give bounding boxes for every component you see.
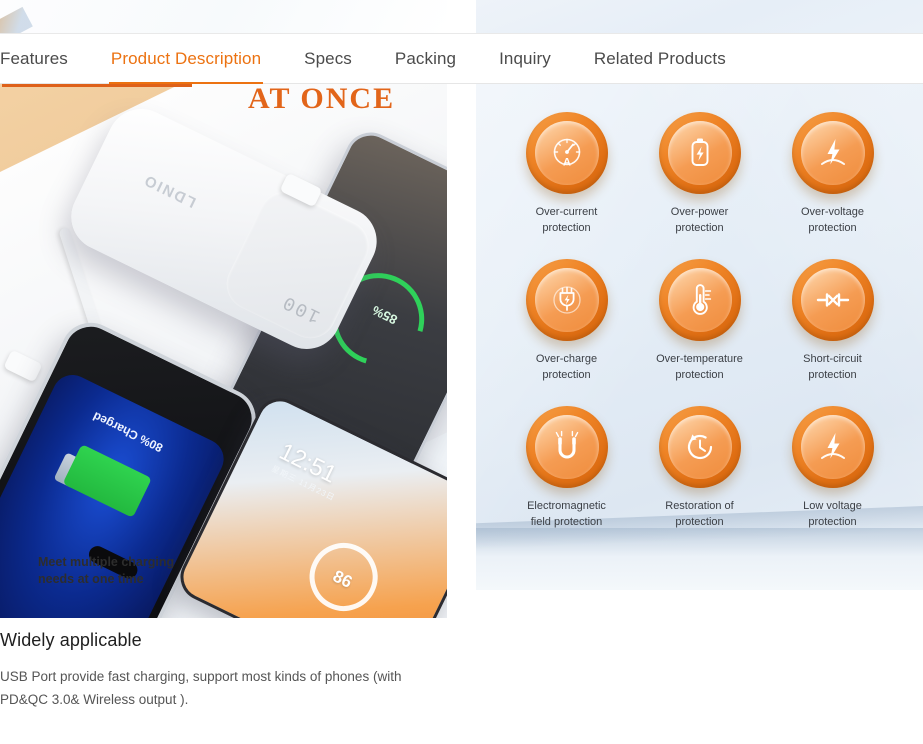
- protection-item: A Over-current protection: [500, 112, 633, 237]
- photo-caption-line-1: Meet multiple charging: [38, 554, 238, 571]
- left-feature-body: USB Port provide fast charging, support …: [0, 665, 447, 711]
- protection-item: Low voltage protection: [766, 406, 899, 531]
- left-feature-title: Widely applicable: [0, 630, 447, 651]
- restore-arrow-icon: [680, 427, 720, 467]
- protection-label-line-1: Over-charge: [536, 352, 597, 368]
- protection-label-line-1: Restoration of: [665, 499, 733, 515]
- previous-image-left-edge: [0, 0, 447, 33]
- protection-grid: A Over-current protection: [476, 112, 923, 531]
- protection-label-line-2: protection: [803, 368, 862, 384]
- photo-caption-line-2: needs at one time: [38, 571, 238, 588]
- protection-badge: [792, 259, 874, 341]
- protection-label-line-2: protection: [671, 221, 728, 237]
- protection-item: Electromagnetic field protection: [500, 406, 633, 531]
- protection-label: Over-power protection: [671, 205, 728, 237]
- protection-label-line-1: Over-current: [536, 205, 598, 221]
- protection-label: Electromagnetic field protection: [527, 499, 606, 531]
- protection-label: Low voltage protection: [803, 499, 862, 531]
- gauge-ampere-icon: A: [547, 133, 587, 173]
- multi-protection-photo: A Over-current protection: [476, 84, 923, 590]
- protection-label-line-1: Over-voltage: [801, 205, 864, 221]
- tab-specs[interactable]: Specs: [304, 33, 352, 84]
- left-feature-column: AT ONCE 85% LDNIO 100: [0, 84, 447, 618]
- protection-label-line-2: protection: [536, 221, 598, 237]
- protection-badge: [792, 406, 874, 488]
- gallery-top-strip: [0, 0, 923, 33]
- protection-item: Over-voltage protection: [766, 112, 899, 237]
- protection-badge: [526, 259, 608, 341]
- protection-badge: [792, 112, 874, 194]
- previous-image-right-edge: [476, 0, 923, 33]
- protection-label-line-1: Electromagnetic: [527, 499, 606, 515]
- protection-item: Restoration of protection: [633, 406, 766, 531]
- tab-packing[interactable]: Packing: [395, 33, 456, 84]
- product-description-page: Features Product Description Specs Packi…: [0, 0, 923, 744]
- protection-badge: [526, 406, 608, 488]
- tab-inquiry[interactable]: Inquiry: [499, 33, 551, 84]
- tab-product-description[interactable]: Product Description: [111, 33, 261, 84]
- protection-label-line-2: protection: [801, 221, 864, 237]
- tab-specs-label: Specs: [304, 49, 352, 69]
- protection-label-line-1: Low voltage: [803, 499, 862, 515]
- svg-text:A: A: [563, 157, 571, 169]
- plug-bolt-icon: [547, 280, 587, 320]
- protection-label-line-2: protection: [536, 368, 597, 384]
- protection-item: Short-circuit protection: [766, 259, 899, 384]
- battery-bolt-icon: [680, 133, 720, 173]
- protection-label-line-1: Short-circuit: [803, 352, 862, 368]
- magnet-icon: [547, 427, 587, 467]
- bolt-arc-icon: [813, 133, 853, 173]
- tab-related-products-label: Related Products: [594, 49, 726, 69]
- protection-label: Restoration of protection: [665, 499, 733, 531]
- protection-label-line-2: protection: [803, 515, 862, 531]
- protection-badge: [659, 406, 741, 488]
- protection-item: Over-power protection: [633, 112, 766, 237]
- charge-ring-icon: 86: [298, 532, 389, 618]
- description-content: AT ONCE 85% LDNIO 100: [0, 84, 923, 744]
- tab-inquiry-label: Inquiry: [499, 49, 551, 69]
- tab-packing-label: Packing: [395, 49, 456, 69]
- protection-badge: [659, 259, 741, 341]
- protection-label-line-2: protection: [656, 368, 743, 384]
- protection-label: Short-circuit protection: [803, 352, 862, 384]
- protection-label-line-2: field protection: [527, 515, 606, 531]
- tab-features[interactable]: Features: [0, 33, 68, 84]
- headline-rule: [2, 84, 192, 87]
- protection-label-line-2: protection: [665, 515, 733, 531]
- widely-applicable-text: Widely applicable USB Port provide fast …: [0, 630, 447, 711]
- tab-product-description-label: Product Description: [111, 49, 261, 69]
- android-charge-percent: 86: [312, 558, 373, 601]
- gallery-gutter: [447, 0, 476, 33]
- background-floor: [476, 528, 923, 590]
- right-feature-column: A Over-current protection: [476, 84, 923, 590]
- protection-label: Over-voltage protection: [801, 205, 864, 237]
- widely-applicable-photo: AT ONCE 85% LDNIO 100: [0, 84, 447, 618]
- protection-label-line-1: Over-temperature: [656, 352, 743, 368]
- photo-headline: AT ONCE: [248, 84, 395, 116]
- protection-item: Over-charge protection: [500, 259, 633, 384]
- protection-badge: [659, 112, 741, 194]
- tab-features-label: Features: [0, 49, 68, 69]
- protection-item: Over-temperature protection: [633, 259, 766, 384]
- bolt-arc-icon: [813, 427, 853, 467]
- section-tab-bar: Features Product Description Specs Packi…: [0, 33, 923, 84]
- brand-logo: LDNIO: [140, 171, 198, 211]
- short-circuit-icon: [813, 280, 853, 320]
- protection-label: Over-current protection: [536, 205, 598, 237]
- protection-badge: A: [526, 112, 608, 194]
- protection-label: Over-temperature protection: [656, 352, 743, 384]
- protection-label-line-1: Over-power: [671, 205, 728, 221]
- thermometer-icon: [680, 280, 720, 320]
- photo-caption: Meet multiple charging needs at one time: [38, 554, 238, 588]
- tab-related-products[interactable]: Related Products: [594, 33, 726, 84]
- protection-label: Over-charge protection: [536, 352, 597, 384]
